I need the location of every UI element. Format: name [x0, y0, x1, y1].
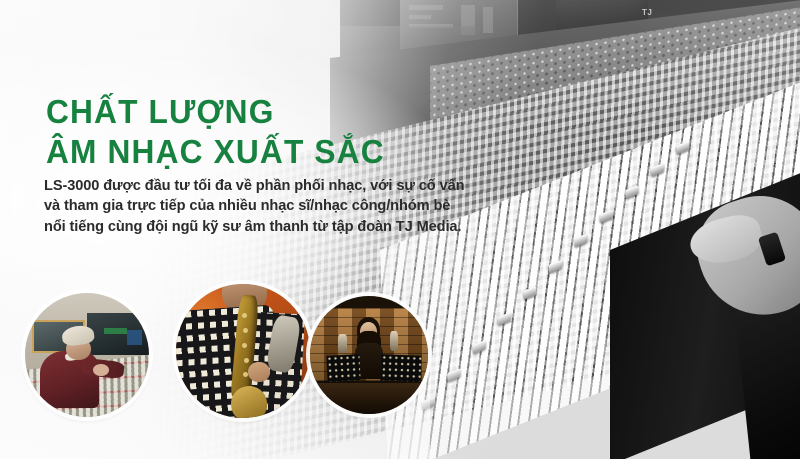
photo-sound-engineer-at-mixing-console	[25, 293, 149, 417]
circular-photo-row	[0, 0, 800, 459]
photo-saxophone-player	[176, 284, 310, 418]
photo-female-vocalist-recording	[310, 296, 428, 414]
promo-banner: TJ	[0, 0, 800, 459]
